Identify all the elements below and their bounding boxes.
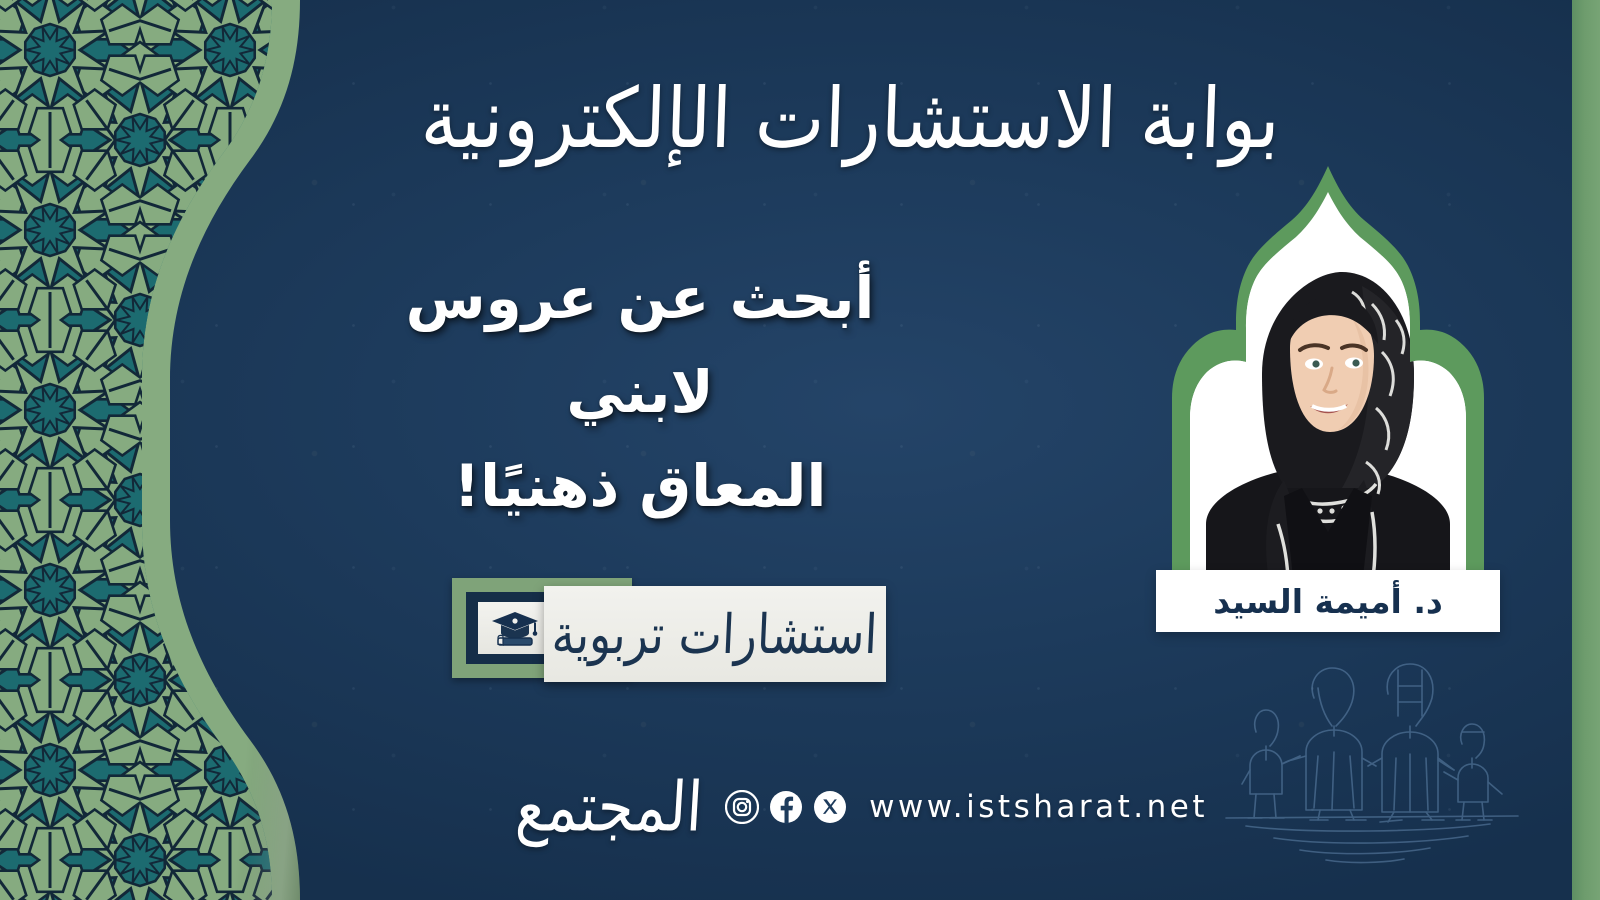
social-links	[725, 790, 847, 824]
website-url[interactable]: www.istsharat.net	[869, 789, 1208, 825]
category-badge-plate: استشارات تربوية	[544, 586, 886, 682]
masthead: بوابة الاستشارات الإلكترونية	[480, 44, 1220, 194]
category-badge[interactable]: استشارات تربوية	[452, 578, 886, 682]
instagram-icon[interactable]	[725, 790, 759, 824]
graduation-cap-book-icon	[478, 602, 552, 654]
expert-portrait-card: د. أميمة السيد	[1152, 166, 1504, 638]
footer: المجتمع	[548, 752, 1208, 862]
expert-photo	[1166, 256, 1490, 586]
headline-line-1: أبحث عن عروس لابني	[330, 252, 950, 440]
expert-name: د. أميمة السيد	[1213, 582, 1443, 621]
expert-nameplate: د. أميمة السيد	[1156, 570, 1500, 632]
category-badge-label: استشارات تربوية	[551, 602, 879, 666]
portal-title: بوابة الاستشارات الإلكترونية	[419, 67, 1281, 171]
x-icon[interactable]	[813, 790, 847, 824]
facebook-icon[interactable]	[769, 790, 803, 824]
consultation-poster: بوابة الاستشارات الإلكترونية أبحث عن عرو…	[0, 0, 1600, 900]
headline: أبحث عن عروس لابني المعاق ذهنيًا!	[330, 252, 950, 534]
headline-line-2: المعاق ذهنيًا!	[330, 440, 950, 534]
brand-logo: المجتمع	[514, 767, 705, 847]
portrait-inner-panel	[1152, 166, 1504, 586]
right-green-stripe	[1572, 0, 1600, 900]
